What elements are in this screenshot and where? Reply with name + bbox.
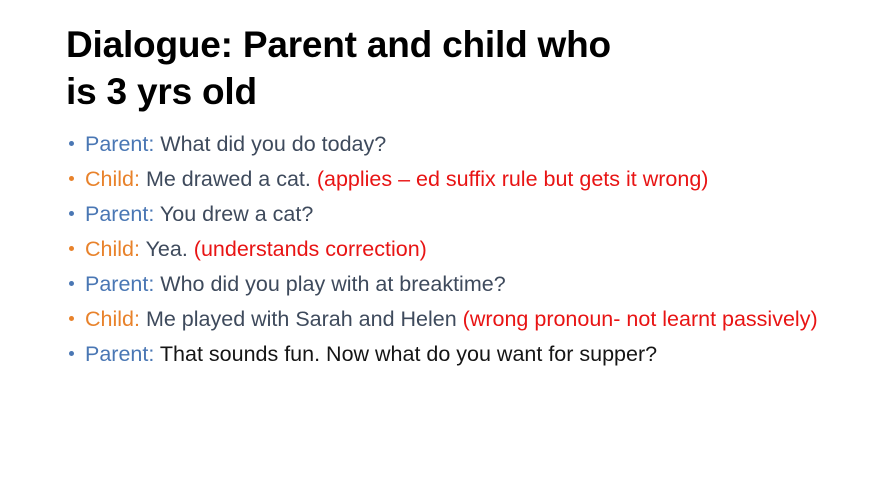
speaker-label: Parent:	[85, 272, 160, 296]
speaker-label: Parent:	[85, 202, 160, 226]
slide-canvas: Dialogue: Parent and child who is 3 yrs …	[0, 0, 880, 495]
bullet-dot-icon	[69, 246, 74, 251]
bullet-dot-icon	[69, 141, 74, 146]
list-item: Child: Me drawed a cat. (applies – ed su…	[66, 166, 828, 194]
annotation-note: (applies – ed suffix rule but gets it wr…	[317, 167, 709, 191]
speaker-label: Child:	[85, 307, 146, 331]
dialogue-bullet-list: Parent: What did you do today?Child: Me …	[66, 131, 828, 369]
list-item: Child: Yea. (understands correction)	[66, 236, 828, 264]
list-item: Parent: Who did you play with at breakti…	[66, 271, 828, 299]
bullet-dot-icon	[69, 176, 74, 181]
utterance-text: Me drawed a cat.	[146, 167, 317, 191]
list-item: Parent: You drew a cat?	[66, 201, 828, 229]
speaker-label: Parent:	[85, 342, 160, 366]
list-item: Parent: What did you do today?	[66, 131, 828, 159]
speaker-label: Child:	[85, 167, 146, 191]
bullet-dot-icon	[69, 351, 74, 356]
speaker-label: Child:	[85, 237, 146, 261]
bullet-dot-icon	[69, 316, 74, 321]
bullet-dot-icon	[69, 211, 74, 216]
utterance-text: Yea.	[146, 237, 194, 261]
annotation-note: (wrong pronoun- not learnt passively)	[463, 307, 818, 331]
utterance-text: What did you do today?	[160, 132, 386, 156]
utterance-text: Me played with Sarah and Helen	[146, 307, 463, 331]
annotation-note: (understands correction)	[194, 237, 427, 261]
list-item: Child: Me played with Sarah and Helen (w…	[66, 306, 828, 334]
utterance-text: That sounds fun. Now what do you want fo…	[160, 342, 657, 366]
utterance-text: You drew a cat?	[160, 202, 313, 226]
page-title: Dialogue: Parent and child who is 3 yrs …	[66, 22, 826, 116]
speaker-label: Parent:	[85, 132, 160, 156]
list-item: Parent: That sounds fun. Now what do you…	[66, 341, 828, 369]
utterance-text: Who did you play with at breaktime?	[160, 272, 505, 296]
bullet-dot-icon	[69, 281, 74, 286]
